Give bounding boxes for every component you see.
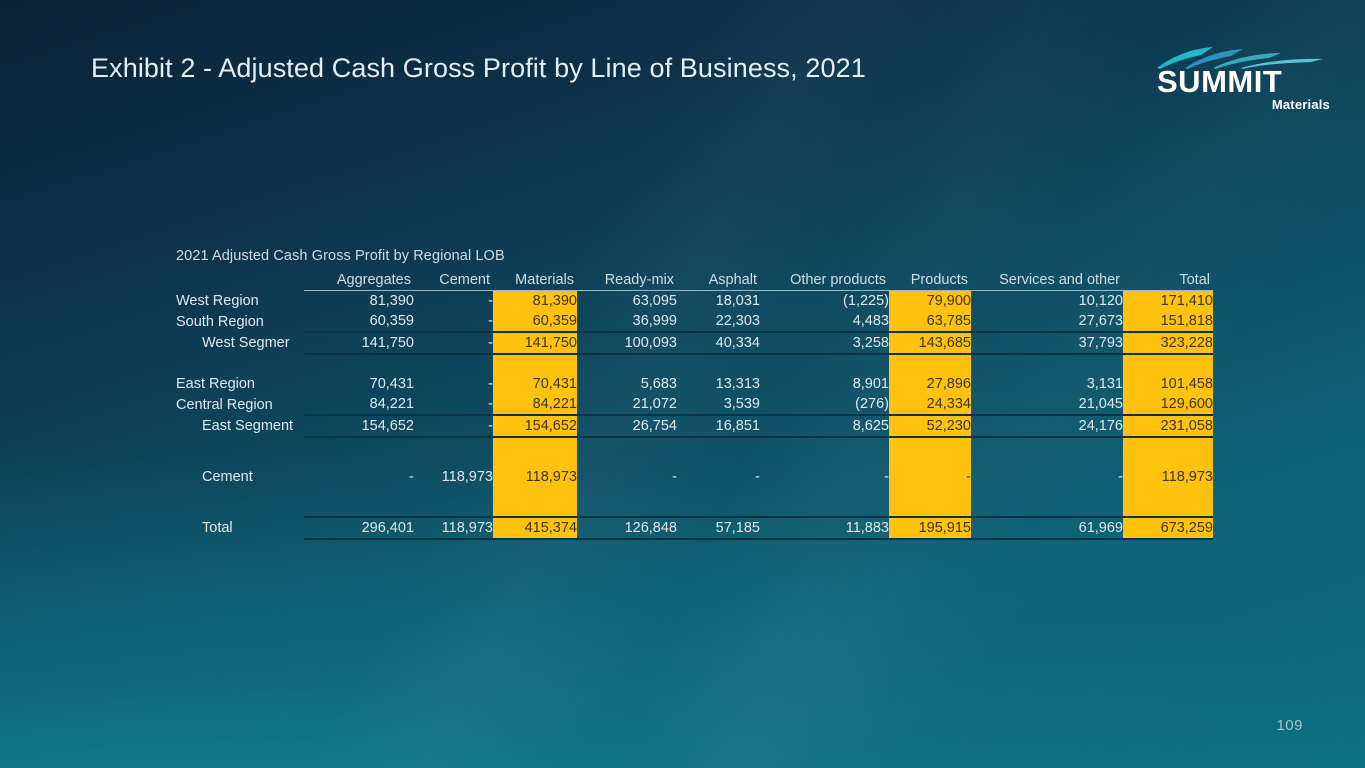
- row-label: West Segmer: [176, 332, 304, 354]
- cell-asphalt: 18,031: [677, 291, 760, 312]
- adjusted-cash-gross-profit-table: AggregatesCementMaterialsReady-mixAsphal…: [176, 270, 1213, 540]
- cell-products: 79,900: [889, 291, 971, 312]
- cell-other_products: [760, 354, 889, 374]
- row-label: Cement: [176, 457, 304, 497]
- cell-ready_mix: [577, 437, 677, 457]
- table-header: AggregatesCementMaterialsReady-mixAsphal…: [176, 270, 1213, 291]
- cell-other_products: 4,483: [760, 311, 889, 332]
- cell-aggregates: 81,390: [304, 291, 414, 312]
- cell-cement: -: [414, 374, 493, 394]
- table-spacer-row: [176, 437, 1213, 457]
- row-label: [176, 497, 304, 517]
- column-header-services_other: Services and other: [971, 270, 1123, 291]
- column-header-total: Total: [1123, 270, 1213, 291]
- cell-cement: -: [414, 332, 493, 354]
- table-row: Central Region84,221-84,22121,0723,539(2…: [176, 394, 1213, 415]
- cell-other_products: (1,225): [760, 291, 889, 312]
- cell-asphalt: [677, 497, 760, 517]
- cell-other_products: 3,258: [760, 332, 889, 354]
- cell-total: 118,973: [1123, 457, 1213, 497]
- cell-asphalt: 57,185: [677, 517, 760, 539]
- cell-other_products: 8,625: [760, 415, 889, 437]
- cell-cement: [414, 437, 493, 457]
- cell-ready_mix: 21,072: [577, 394, 677, 415]
- cell-ready_mix: 36,999: [577, 311, 677, 332]
- row-label: Central Region: [176, 394, 304, 415]
- column-header-asphalt: Asphalt: [677, 270, 760, 291]
- cell-cement: -: [414, 291, 493, 312]
- cell-materials: 81,390: [493, 291, 577, 312]
- table-row: South Region60,359-60,35936,99922,3034,4…: [176, 311, 1213, 332]
- cell-asphalt: 13,313: [677, 374, 760, 394]
- cell-asphalt: -: [677, 457, 760, 497]
- cell-total: [1123, 497, 1213, 517]
- page-title: Exhibit 2 - Adjusted Cash Gross Profit b…: [91, 53, 866, 84]
- cell-cement: [414, 497, 493, 517]
- cell-services_other: [971, 354, 1123, 374]
- table-spacer-row: [176, 497, 1213, 517]
- cell-services_other: 21,045: [971, 394, 1123, 415]
- cell-products: [889, 354, 971, 374]
- cell-cement: 118,973: [414, 457, 493, 497]
- cell-total: 323,228: [1123, 332, 1213, 354]
- row-label: [176, 354, 304, 374]
- cell-asphalt: 16,851: [677, 415, 760, 437]
- cell-total: 101,458: [1123, 374, 1213, 394]
- cell-services_other: [971, 437, 1123, 457]
- cell-products: [889, 497, 971, 517]
- cell-services_other: 61,969: [971, 517, 1123, 539]
- row-label: East Region: [176, 374, 304, 394]
- cell-asphalt: [677, 354, 760, 374]
- table-header-row: AggregatesCementMaterialsReady-mixAsphal…: [176, 270, 1213, 291]
- column-header-aggregates: Aggregates: [304, 270, 414, 291]
- cell-other_products: (276): [760, 394, 889, 415]
- cell-ready_mix: 126,848: [577, 517, 677, 539]
- table-spacer-row: [176, 354, 1213, 374]
- cell-aggregates: [304, 354, 414, 374]
- cell-materials: [493, 437, 577, 457]
- cell-cement: 118,973: [414, 517, 493, 539]
- cell-materials: 60,359: [493, 311, 577, 332]
- cell-aggregates: [304, 497, 414, 517]
- cell-materials: [493, 354, 577, 374]
- cell-services_other: 3,131: [971, 374, 1123, 394]
- cell-asphalt: 22,303: [677, 311, 760, 332]
- column-header-ready_mix: Ready-mix: [577, 270, 677, 291]
- column-header-products: Products: [889, 270, 971, 291]
- cell-ready_mix: [577, 497, 677, 517]
- cell-aggregates: 70,431: [304, 374, 414, 394]
- row-label: West Region: [176, 291, 304, 312]
- cell-asphalt: [677, 437, 760, 457]
- cell-materials: 141,750: [493, 332, 577, 354]
- table-row: East Region70,431-70,4315,68313,3138,901…: [176, 374, 1213, 394]
- cell-ready_mix: [577, 354, 677, 374]
- cell-other_products: [760, 437, 889, 457]
- cell-other_products: [760, 497, 889, 517]
- cell-aggregates: [304, 437, 414, 457]
- table-body: West Region81,390-81,39063,09518,031(1,2…: [176, 291, 1213, 540]
- logo-subtext: Materials: [1272, 97, 1330, 112]
- cell-products: 63,785: [889, 311, 971, 332]
- cell-cement: -: [414, 394, 493, 415]
- column-header-materials: Materials: [493, 270, 577, 291]
- cell-total: 129,600: [1123, 394, 1213, 415]
- summit-materials-logo: SUMMIT Materials: [1155, 46, 1330, 116]
- table-row: West Region81,390-81,39063,09518,031(1,2…: [176, 291, 1213, 312]
- cell-ready_mix: 26,754: [577, 415, 677, 437]
- cell-ready_mix: 5,683: [577, 374, 677, 394]
- page-number: 109: [1276, 717, 1303, 734]
- cell-other_products: 8,901: [760, 374, 889, 394]
- cell-products: 143,685: [889, 332, 971, 354]
- financial-table-container: 2021 Adjusted Cash Gross Profit by Regio…: [176, 248, 1221, 540]
- table-row: West Segmer141,750-141,750100,09340,3343…: [176, 332, 1213, 354]
- cell-products: 195,915: [889, 517, 971, 539]
- cell-other_products: -: [760, 457, 889, 497]
- cell-materials: [493, 497, 577, 517]
- cell-services_other: 24,176: [971, 415, 1123, 437]
- cell-products: 24,334: [889, 394, 971, 415]
- cell-total: [1123, 354, 1213, 374]
- cell-services_other: 27,673: [971, 311, 1123, 332]
- cell-materials: 415,374: [493, 517, 577, 539]
- cell-services_other: 10,120: [971, 291, 1123, 312]
- cell-cement: [414, 354, 493, 374]
- cell-products: 27,896: [889, 374, 971, 394]
- cell-aggregates: 84,221: [304, 394, 414, 415]
- cell-aggregates: 60,359: [304, 311, 414, 332]
- cell-total: 673,259: [1123, 517, 1213, 539]
- cell-asphalt: 40,334: [677, 332, 760, 354]
- table-row: East Segment154,652-154,65226,75416,8518…: [176, 415, 1213, 437]
- row-label: [176, 437, 304, 457]
- column-header-label: [176, 270, 304, 291]
- cell-asphalt: 3,539: [677, 394, 760, 415]
- cell-aggregates: 154,652: [304, 415, 414, 437]
- row-label: East Segment: [176, 415, 304, 437]
- cell-products: 52,230: [889, 415, 971, 437]
- cell-other_products: 11,883: [760, 517, 889, 539]
- cell-total: [1123, 437, 1213, 457]
- column-header-other_products: Other products: [760, 270, 889, 291]
- cell-materials: 154,652: [493, 415, 577, 437]
- column-header-cement: Cement: [414, 270, 493, 291]
- table-row: Cement-118,973118,973-----118,973: [176, 457, 1213, 497]
- cell-services_other: 37,793: [971, 332, 1123, 354]
- cell-cement: -: [414, 415, 493, 437]
- cell-total: 231,058: [1123, 415, 1213, 437]
- cell-total: 151,818: [1123, 311, 1213, 332]
- cell-aggregates: 296,401: [304, 517, 414, 539]
- cell-materials: 70,431: [493, 374, 577, 394]
- cell-total: 171,410: [1123, 291, 1213, 312]
- cell-cement: -: [414, 311, 493, 332]
- table-caption: 2021 Adjusted Cash Gross Profit by Regio…: [176, 248, 1221, 267]
- cell-ready_mix: -: [577, 457, 677, 497]
- table-row: Total296,401118,973415,374126,84857,1851…: [176, 517, 1213, 539]
- cell-ready_mix: 100,093: [577, 332, 677, 354]
- cell-services_other: [971, 497, 1123, 517]
- cell-ready_mix: 63,095: [577, 291, 677, 312]
- cell-aggregates: 141,750: [304, 332, 414, 354]
- cell-materials: 118,973: [493, 457, 577, 497]
- cell-aggregates: -: [304, 457, 414, 497]
- cell-products: -: [889, 457, 971, 497]
- cell-materials: 84,221: [493, 394, 577, 415]
- row-label: South Region: [176, 311, 304, 332]
- row-label: Total: [176, 517, 304, 539]
- cell-products: [889, 437, 971, 457]
- logo-wordmark: SUMMIT: [1157, 66, 1282, 97]
- cell-services_other: -: [971, 457, 1123, 497]
